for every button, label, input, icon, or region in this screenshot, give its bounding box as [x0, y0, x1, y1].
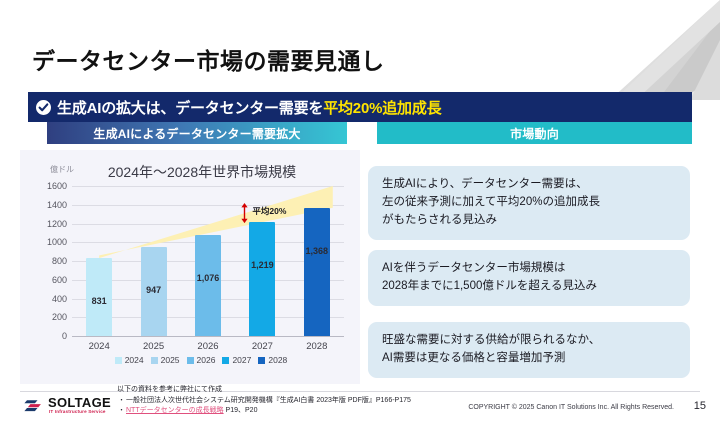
soltage-logo-tagline: IT Infrastructure Service	[49, 409, 106, 414]
column-header-right: 市場動向	[377, 122, 692, 144]
chart-bar	[249, 222, 275, 336]
source-bullet-icon: ・	[117, 406, 126, 417]
callout-box: AIを伴うデータセンター市場規模は 2028年までに1,500億ドルを超える見込…	[368, 250, 690, 306]
chart-x-tick-label: 2024	[89, 341, 110, 352]
chart-bar	[195, 235, 221, 336]
source-item: ・ 一般社団法人次世代社会システム研究開発機構『生成AI白書 2023年版 PD…	[117, 396, 477, 407]
source-item: ・ NTTデータセンターの成長戦略 P19、P20	[117, 406, 477, 417]
callout-box: 生成AIにより、データセンター需要は、 左の従来予測に加えて平均20%の追加成長…	[368, 166, 690, 240]
banner-text-plain: 生成AIの拡大は、データセンター需要を	[57, 100, 323, 117]
chart-legend-label: 2026	[197, 355, 216, 365]
callout-box: 旺盛な需要に対する供給が限られるなか、 AI需要は更なる価格と容量増加予測	[368, 322, 690, 378]
source-text: P19、P20	[224, 407, 258, 414]
chart-annotation-label: 平均20%	[252, 205, 286, 217]
chart-legend-swatch	[222, 357, 229, 364]
chart-legend-item: 2028	[258, 355, 287, 365]
source-link[interactable]: NTTデータセンターの成長戦略	[126, 407, 224, 414]
chart-y-tick-label: 1600	[47, 181, 67, 191]
soltage-logo-mark-icon	[24, 398, 44, 418]
chart-bar	[304, 208, 330, 336]
callout-text: 生成AIにより、データセンター需要は、 左の従来予測に加えて平均20%の追加成長…	[382, 176, 600, 229]
chart-bar-value-label: 1,076	[197, 273, 220, 283]
page-title: データセンター市場の需要見通し	[32, 42, 385, 76]
chart-y-tick-label: 200	[52, 312, 67, 322]
source-text: 一般社団法人次世代社会システム研究開発機構『生成AI白書 2023年版 PDF版…	[126, 396, 411, 407]
column-header-left-label: 生成AIによるデータセンター需要拡大	[93, 125, 300, 142]
callout-text: 旺盛な需要に対する供給が限られるなか、 AI需要は更なる価格と容量増加予測	[382, 332, 600, 368]
chart-y-tick-label: 1000	[47, 237, 67, 247]
chart-bar-value-label: 831	[92, 296, 107, 306]
chart-x-tick-label: 2026	[197, 341, 218, 352]
chart-x-tick-label: 2025	[143, 341, 164, 352]
chart-uplift-arrow-icon	[240, 203, 249, 223]
chart-x-tick-label: 2027	[252, 341, 273, 352]
chart-legend-item: 2025	[151, 355, 180, 365]
chart-legend-swatch	[115, 357, 122, 364]
banner-text-highlight: 平均20%追加成長	[323, 100, 441, 117]
chart-legend-label: 2028	[268, 355, 287, 365]
source-text-wrap: NTTデータセンターの成長戦略 P19、P20	[126, 406, 257, 417]
chart-legend: 20242025202620272028	[20, 355, 360, 365]
source-citations: 以下の資料を参考に弊社にて作成 ・ 一般社団法人次世代社会システム研究開発機構『…	[117, 385, 477, 417]
chart-legend-swatch	[151, 357, 158, 364]
chart-title: 2024年〜2028年世界市場規模	[20, 162, 360, 182]
chart-y-tick-label: 600	[52, 275, 67, 285]
chart-gridline	[72, 186, 344, 187]
chart-y-tick-label: 0	[62, 331, 67, 341]
page-number: 15	[694, 400, 706, 412]
check-circle-icon	[36, 100, 51, 115]
chart-legend-label: 2027	[232, 355, 251, 365]
callout-text: AIを伴うデータセンター市場規模は 2028年までに1,500億ドルを超える見込…	[382, 260, 597, 296]
chart-legend-item: 2027	[222, 355, 251, 365]
chart-gridline	[72, 336, 344, 337]
source-lead: 以下の資料を参考に弊社にて作成	[117, 385, 477, 396]
soltage-logo-name: SOLTAGE	[48, 395, 111, 410]
copyright-text: COPYRIGHT © 2025 Canon IT Solutions Inc.…	[468, 404, 674, 411]
chart-y-tick-label: 400	[52, 294, 67, 304]
column-header-left: 生成AIによるデータセンター需要拡大	[47, 122, 347, 144]
slide: データセンター市場の需要見通し 生成AIの拡大は、データセンター需要を平均20%…	[0, 0, 720, 444]
chart-gridline	[72, 205, 344, 206]
chart-bar-value-label: 1,219	[251, 260, 274, 270]
key-message-banner: 生成AIの拡大は、データセンター需要を平均20%追加成長	[28, 92, 692, 122]
banner-text: 生成AIの拡大は、データセンター需要を平均20%追加成長	[57, 97, 441, 118]
chart-legend-swatch	[258, 357, 265, 364]
source-bullet-icon: ・	[117, 396, 126, 407]
chart-plot-area: 0200400600800100012001400160083120249472…	[72, 186, 344, 336]
chart-panel: 億ドル 2024年〜2028年世界市場規模 020040060080010001…	[20, 150, 360, 384]
chart-y-tick-label: 800	[52, 256, 67, 266]
chart-x-tick-label: 2028	[306, 341, 327, 352]
corner-decoration-icon	[570, 0, 720, 100]
chart-legend-label: 2025	[161, 355, 180, 365]
chart-legend-item: 2026	[187, 355, 216, 365]
chart-legend-label: 2024	[125, 355, 144, 365]
chart-y-tick-label: 1400	[47, 200, 67, 210]
column-header-right-label: 市場動向	[510, 125, 559, 142]
chart-bar-value-label: 947	[146, 285, 161, 295]
chart-y-tick-label: 1200	[47, 219, 67, 229]
chart-legend-item: 2024	[115, 355, 144, 365]
chart-legend-swatch	[187, 357, 194, 364]
chart-bar-value-label: 1,368	[306, 246, 329, 256]
